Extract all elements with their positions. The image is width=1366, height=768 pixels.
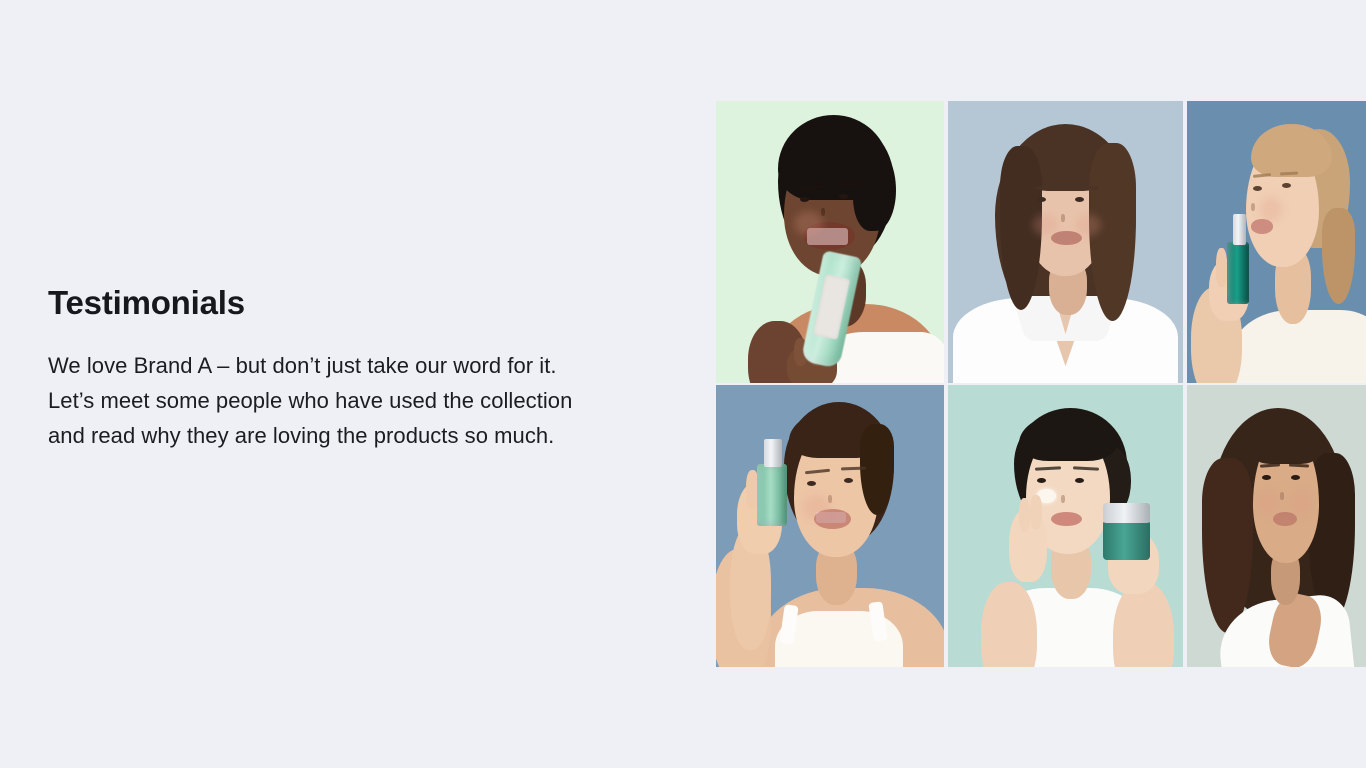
intro-paragraph: We love Brand A – but don’t just take ou… [48,348,708,453]
testimonial-photo-5[interactable] [948,385,1183,667]
testimonial-photo-grid [716,101,1366,667]
testimonial-photo-4[interactable] [716,385,944,667]
page-title: Testimonials [48,283,708,323]
testimonial-photo-2[interactable] [948,101,1183,383]
text-panel: Testimonials We love Brand A – but don’t… [48,283,708,453]
testimonial-photo-3[interactable] [1187,101,1366,383]
testimonial-photo-6[interactable] [1187,385,1366,667]
testimonial-photo-1[interactable] [716,101,944,383]
